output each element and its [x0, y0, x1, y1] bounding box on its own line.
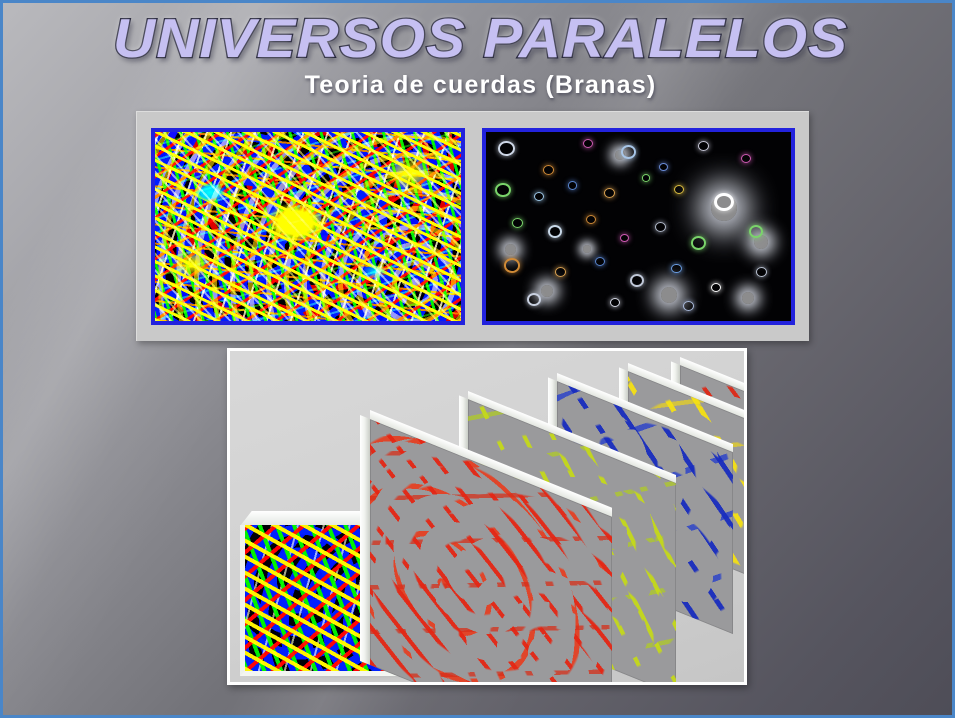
loop-ring: [711, 283, 721, 292]
brane-edge-2: [360, 415, 370, 665]
loop-ring: [659, 163, 668, 171]
loop-ring: [512, 218, 523, 228]
loop-ring: [586, 215, 596, 224]
slide-canvas: UNIVERSOS PARALELOS Teoria de cuerdas (B…: [0, 0, 955, 718]
loop-ring: [620, 234, 629, 242]
brane-stage: [230, 351, 744, 682]
loop-ring: [504, 258, 520, 273]
loop-glow: [661, 287, 677, 303]
strings-image[interactable]: [151, 128, 465, 325]
loop-ring: [674, 185, 684, 194]
loop-ring: [548, 225, 562, 238]
page-subtitle: Teoria de cuerdas (Branas): [3, 66, 955, 100]
loop-ring: [498, 141, 515, 156]
brane-stack-panel: [227, 348, 747, 685]
loop-ring: [568, 181, 577, 189]
loop-ring: [714, 193, 734, 211]
loop-ring: [671, 264, 682, 274]
loop-ring: [610, 298, 620, 307]
loop-ring: [595, 257, 605, 266]
loop-ring: [630, 274, 644, 287]
loop-ring: [543, 165, 554, 175]
loop-ring: [621, 145, 636, 159]
loop-ring: [691, 236, 706, 250]
loop-ring: [683, 301, 694, 311]
loop-glow: [505, 244, 516, 255]
image-pair-panel: [136, 111, 809, 341]
loop-ring: [741, 154, 751, 163]
loop-ring: [642, 174, 650, 181]
loop-glow: [541, 285, 553, 297]
loop-ring: [604, 188, 615, 198]
loop-ring: [495, 183, 511, 198]
loop-ring: [655, 222, 666, 232]
loop-ring: [534, 192, 544, 201]
page-title: UNIVERSOS PARALELOS: [0, 3, 955, 66]
loop-ring: [756, 267, 767, 277]
loop-glow: [742, 292, 754, 304]
loop-ring: [555, 267, 566, 277]
loops-image[interactable]: [482, 128, 795, 325]
loop-glow: [583, 245, 591, 253]
strings-texture: [155, 132, 461, 321]
loop-ring: [698, 141, 709, 151]
loop-ring: [527, 293, 541, 306]
title-block: UNIVERSOS PARALELOS Teoria de cuerdas (B…: [3, 3, 955, 100]
loops-texture: [486, 132, 791, 321]
loop-ring: [583, 139, 593, 148]
